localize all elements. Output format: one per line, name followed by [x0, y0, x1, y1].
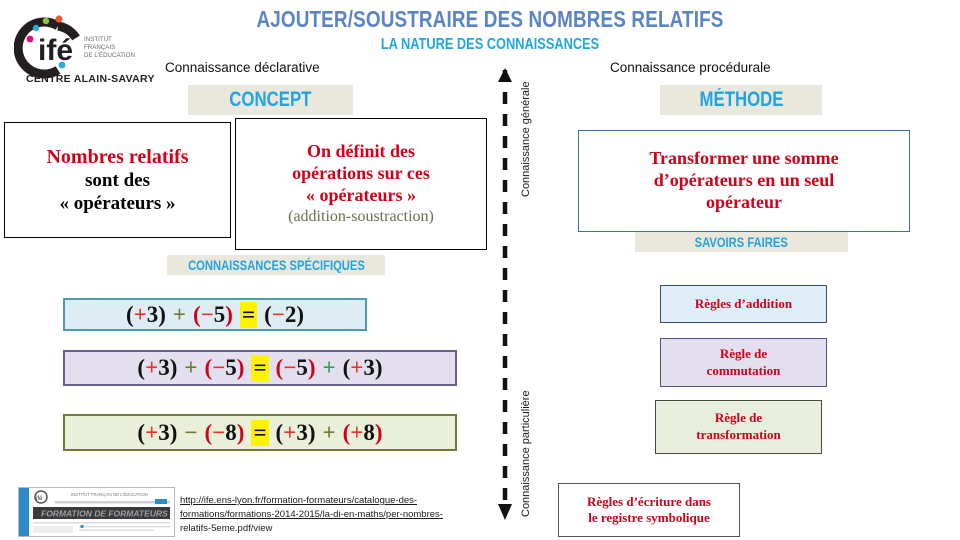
badge-savoirs-faires: SAVOIRS FAIRES	[635, 232, 848, 252]
equation-token: 3	[296, 420, 308, 446]
equation-token: 3	[147, 302, 159, 328]
box-writing-rules: Règles d’écriture dans le registre symbo…	[558, 483, 740, 537]
equation-token: 8	[363, 420, 375, 446]
equation-token: 5	[225, 355, 237, 381]
equation-token: −	[212, 355, 225, 381]
axis-label-generale: Connaissance générale	[520, 81, 532, 197]
equation-token: (	[204, 355, 212, 381]
equation-token: −	[201, 302, 214, 328]
badge-concept: CONCEPT	[188, 85, 353, 115]
equation-token: −	[212, 420, 225, 446]
axis-label-particuliere: Connaissance particulière	[520, 390, 532, 517]
equation-token: )	[158, 302, 166, 328]
equation-token: +	[184, 355, 197, 381]
equation-token: 3	[158, 420, 170, 446]
badge-connaissances-specifiques: CONNAISSANCES SPÉCIFIQUES	[167, 255, 385, 275]
slide-title: AJOUTER/SOUSTRAIRE DES NOMBRES RELATIFS	[236, 6, 744, 33]
equation-token: )	[308, 355, 316, 381]
logo-dot	[43, 18, 49, 24]
svg-text:INSTITUT: INSTITUT	[84, 36, 112, 43]
equation-token: 5	[214, 302, 226, 328]
equation-transformation: (+3)−(−8)=(+3)+(+8)	[63, 414, 457, 451]
rule-transformation: Règle de transformation	[655, 400, 822, 454]
equation-token: )	[375, 420, 383, 446]
equation-token: 5	[296, 355, 308, 381]
equation-token: (	[204, 420, 212, 446]
box-method: Transformer une somme d’opérateurs en un…	[578, 130, 910, 232]
equation-commutation: (+3)+(−5)=(−5)+(+3)	[63, 350, 457, 386]
ife-logo: ifé INSTITUT FRANÇAIS DE L'ÉDUCATION CEN…	[14, 8, 154, 86]
equation-token: 2	[285, 302, 297, 328]
svg-text:ifé: ifé	[36, 496, 43, 502]
knowledge-axis: Connaissance générale Connaissance parti…	[502, 52, 508, 522]
logo-dot	[27, 36, 34, 43]
equation-token: 8	[225, 420, 237, 446]
equation-token: +	[323, 355, 336, 381]
equation-token: )	[170, 420, 178, 446]
equation-token: (	[137, 355, 145, 381]
box-concept-operations: On définit des opérations sur ces « opér…	[235, 118, 487, 250]
equation-token: (	[264, 302, 272, 328]
document-thumbnail[interactable]: ifé INSTITUT FRANÇAIS DE L'ÉDUCATION FOR…	[18, 487, 175, 537]
equation-token: +	[350, 420, 363, 446]
equation-token: +	[145, 355, 158, 381]
source-url[interactable]: http://ife.ens-lyon.fr/formation-formate…	[180, 494, 480, 535]
equation-token: )	[170, 355, 178, 381]
logo-wordmark: ifé	[38, 34, 73, 67]
equation-token: 3	[158, 355, 170, 381]
logo-centre-label: CENTRE ALAIN-SAVARY	[26, 73, 154, 85]
equation-token: (	[343, 420, 351, 446]
thumbnail-header-text: INSTITUT FRANÇAIS DE L'ÉDUCATION	[71, 492, 148, 497]
axis-arrow-down	[498, 504, 512, 520]
equation-token: )	[308, 420, 316, 446]
axis-arrow-up	[498, 68, 512, 82]
equation-token: (	[126, 302, 134, 328]
equation-token: +	[283, 420, 296, 446]
equation-token: )	[237, 355, 245, 381]
equation-token: (	[343, 355, 351, 381]
equation-token: =	[240, 302, 257, 328]
equation-token: =	[251, 355, 268, 381]
equation-token: −	[283, 355, 296, 381]
equation-addition: (+3)+(−5)=(−2)	[63, 298, 367, 331]
equation-token: (	[276, 420, 284, 446]
equation-token: +	[134, 302, 147, 328]
rule-commutation: Règle de commutation	[660, 338, 827, 387]
left-column-caption: Connaissance déclarative	[165, 60, 320, 75]
slide-canvas: ifé INSTITUT FRANÇAIS DE L'ÉDUCATION CEN…	[0, 0, 960, 540]
right-column-caption: Connaissance procédurale	[610, 60, 771, 75]
logo-dot	[33, 25, 39, 31]
equation-token: =	[251, 420, 268, 446]
equation-token: +	[323, 420, 336, 446]
box-concept-definition: Nombres relatifs sont des « opérateurs »	[4, 122, 231, 238]
logo-dot	[55, 15, 62, 22]
thumbnail-title-text: FORMATION DE FORMATEURS	[41, 509, 168, 519]
equation-token: )	[225, 302, 233, 328]
badge-methode: MÉTHODE	[660, 85, 822, 115]
equation-token: −	[272, 302, 285, 328]
equation-token: +	[145, 420, 158, 446]
equation-token: (	[276, 355, 284, 381]
svg-text:FRANÇAIS: FRANÇAIS	[84, 44, 115, 51]
equation-token: (	[193, 302, 201, 328]
equation-token: +	[173, 302, 186, 328]
equation-token: (	[137, 420, 145, 446]
svg-text:DE L'ÉDUCATION: DE L'ÉDUCATION	[84, 52, 135, 59]
equation-token: −	[184, 420, 197, 446]
rule-addition: Règles d’addition	[660, 285, 827, 323]
equation-token: )	[375, 355, 383, 381]
equation-token: )	[296, 302, 304, 328]
equation-token: +	[350, 355, 363, 381]
equation-token: )	[237, 420, 245, 446]
equation-token: 3	[363, 355, 375, 381]
